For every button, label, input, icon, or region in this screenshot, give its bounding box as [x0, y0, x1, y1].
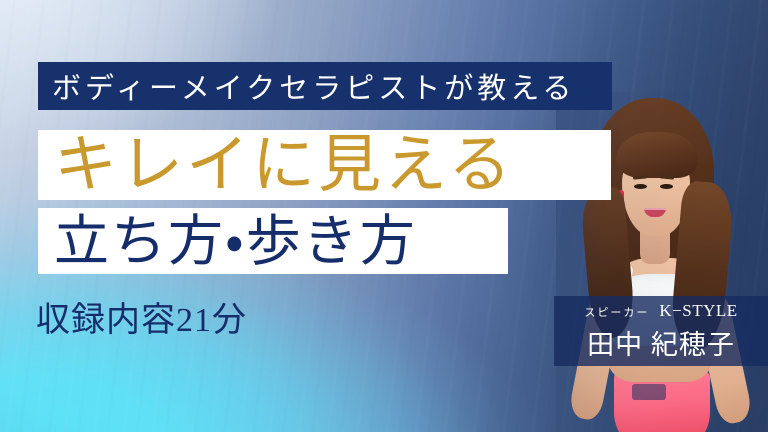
- hair-fringe-icon: [616, 132, 698, 178]
- speaker-name: 田中 紀穂子: [587, 323, 735, 362]
- duration-label: 収録内容21分: [36, 292, 247, 341]
- eye-left: [634, 184, 647, 189]
- headline-line-2: キレイに見える: [38, 130, 611, 200]
- headline-line-1: ボディーメイクセラピストが教える: [38, 62, 612, 110]
- speaker-role-label: スピーカー: [584, 304, 649, 320]
- headline-line-3: 立ち方・歩き方: [38, 208, 508, 274]
- speaker-role-row: スピーカー K−STYLE: [584, 301, 737, 321]
- speaker-plate: スピーカー K−STYLE 田中 紀穂子: [554, 296, 768, 366]
- speaker-brand-label: K−STYLE: [659, 301, 737, 321]
- eye-right: [660, 184, 673, 189]
- promo-banner: ボディーメイクセラピストが教える キレイに見える 立ち方・歩き方 収録内容21分…: [0, 0, 768, 432]
- shorts-logo: [632, 384, 666, 400]
